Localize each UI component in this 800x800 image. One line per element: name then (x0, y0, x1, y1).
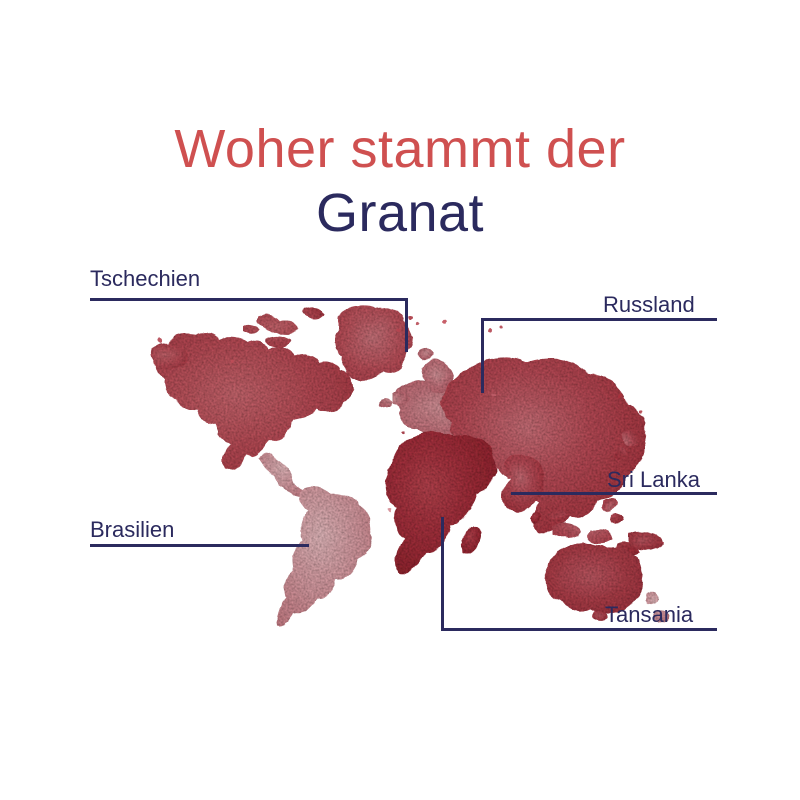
splatter (618, 394, 622, 398)
splatter (492, 392, 495, 395)
splatter (640, 410, 643, 413)
landmass-africa (385, 431, 494, 572)
leader-line-tschechien-horizontal (90, 298, 408, 301)
landmass-greenland (335, 307, 413, 382)
callout-label-brasilien[interactable]: Brasilien (90, 517, 174, 543)
splatter (416, 322, 419, 325)
leader-line-tansania-vertical (441, 517, 444, 631)
splatter (157, 337, 162, 342)
splatter (389, 509, 392, 512)
title-line-2: Granat (0, 180, 800, 246)
splatter (230, 360, 234, 364)
callout-label-sri-lanka[interactable]: Sri Lanka (607, 467, 700, 493)
title-line-1: Woher stammt der (0, 118, 800, 180)
landmass-iceland (418, 350, 434, 361)
garnet-origin-infographic: Woher stammt der Granat (0, 0, 800, 800)
callout-label-tansania[interactable]: Tansania (605, 602, 693, 628)
leader-line-tansania-horizontal (441, 628, 717, 631)
splatter (444, 320, 448, 324)
callout-label-russland[interactable]: Russland (603, 292, 695, 318)
splatter (396, 328, 400, 332)
landmass-madagascar (462, 526, 482, 553)
leader-line-brasilien-horizontal (90, 544, 309, 547)
splatter (501, 325, 504, 328)
page-title: Woher stammt der Granat (0, 118, 800, 246)
splatter (488, 328, 493, 333)
leader-line-sri-lanka-horizontal (511, 492, 717, 495)
splatter (408, 316, 412, 320)
callout-label-tschechien[interactable]: Tschechien (90, 266, 200, 292)
landmass-philippines (603, 498, 623, 524)
landmass-arctic-islands (244, 308, 325, 347)
leader-line-russland-vertical (481, 318, 484, 393)
landmass-south-america (277, 486, 371, 625)
leader-line-tschechien-vertical (405, 298, 408, 352)
splatter (402, 430, 405, 433)
leader-line-russland-horizontal (481, 318, 717, 321)
world-map (150, 300, 670, 630)
landmass-north-america (157, 333, 353, 471)
